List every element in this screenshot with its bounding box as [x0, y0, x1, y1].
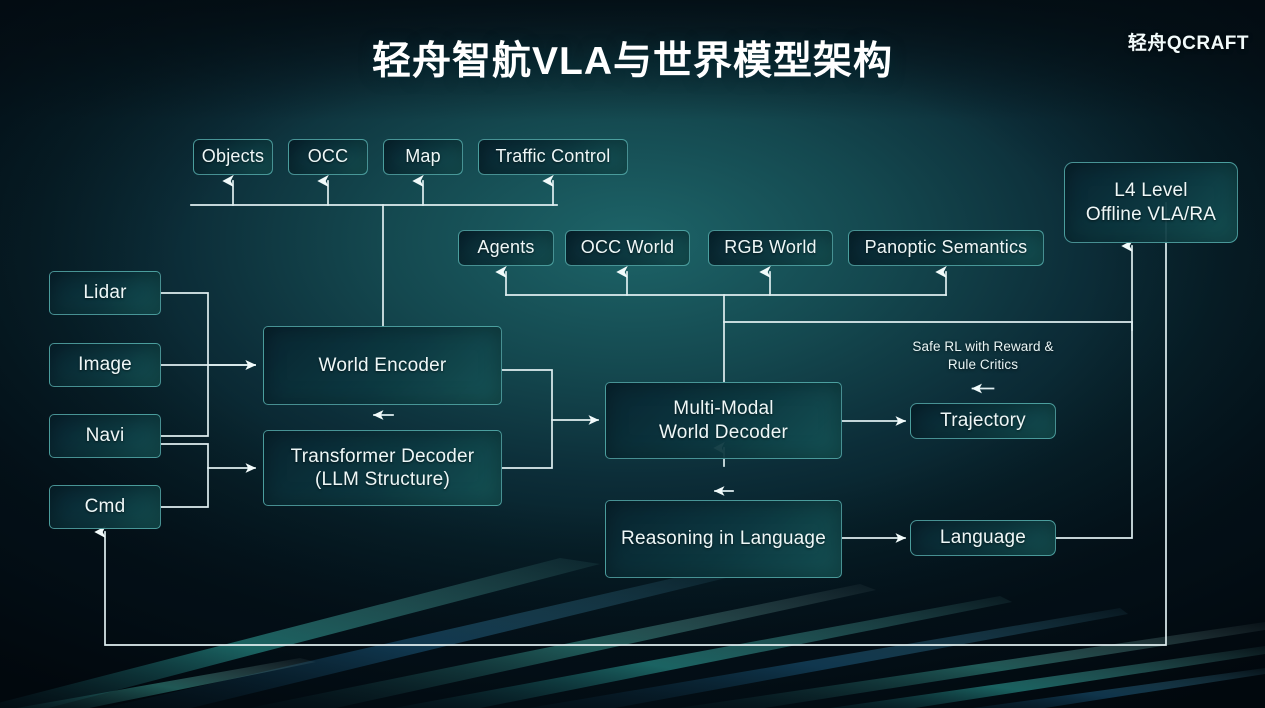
- node-multimodal-world-decoder-line2: World Decoder: [659, 421, 788, 444]
- node-world-encoder[interactable]: World Encoder: [263, 326, 502, 405]
- node-lidar[interactable]: Lidar: [49, 271, 161, 315]
- node-occ[interactable]: OCC: [288, 139, 368, 175]
- node-multimodal-world-decoder-line1: Multi-Modal: [673, 397, 773, 420]
- node-transformer-decoder-line1: Transformer Decoder: [291, 445, 475, 468]
- node-occ-world[interactable]: OCC World: [565, 230, 690, 266]
- node-agents-label: Agents: [477, 237, 534, 259]
- node-image[interactable]: Image: [49, 343, 161, 387]
- node-transformer-decoder[interactable]: Transformer Decoder (LLM Structure): [263, 430, 502, 506]
- node-trajectory[interactable]: Trajectory: [910, 403, 1056, 439]
- node-traffic-control-label: Traffic Control: [495, 146, 610, 168]
- node-rgb-world-label: RGB World: [724, 237, 817, 259]
- annotation-safe-rl-line1: Safe RL with Reward &: [883, 338, 1083, 356]
- node-image-label: Image: [78, 353, 132, 376]
- node-agents[interactable]: Agents: [458, 230, 554, 266]
- node-reasoning-in-language-label: Reasoning in Language: [621, 527, 826, 550]
- node-map-label: Map: [405, 146, 441, 168]
- node-l4-offline-vla[interactable]: L4 Level Offline VLA/RA: [1064, 162, 1238, 243]
- node-occ-world-label: OCC World: [581, 237, 674, 259]
- node-occ-label: OCC: [308, 146, 349, 168]
- node-navi-label: Navi: [86, 424, 125, 447]
- node-language-label: Language: [940, 526, 1026, 549]
- node-panoptic-semantics[interactable]: Panoptic Semantics: [848, 230, 1044, 266]
- node-objects[interactable]: Objects: [193, 139, 273, 175]
- brand-logo: 轻舟QCRAFT: [1128, 28, 1249, 55]
- annotation-safe-rl-line2: Rule Critics: [883, 356, 1083, 374]
- node-rgb-world[interactable]: RGB World: [708, 230, 833, 266]
- node-cmd[interactable]: Cmd: [49, 485, 161, 529]
- node-trajectory-label: Trajectory: [940, 409, 1026, 432]
- node-navi[interactable]: Navi: [49, 414, 161, 458]
- node-world-encoder-label: World Encoder: [319, 354, 447, 377]
- node-language[interactable]: Language: [910, 520, 1056, 556]
- slide-canvas: 轻舟智航VLA与世界模型架构 轻舟QCRAFT Objects OCC Map …: [0, 0, 1265, 708]
- node-reasoning-in-language[interactable]: Reasoning in Language: [605, 500, 842, 578]
- node-panoptic-semantics-label: Panoptic Semantics: [865, 237, 1028, 259]
- node-l4-offline-vla-line2: Offline VLA/RA: [1086, 203, 1216, 226]
- node-transformer-decoder-line2: (LLM Structure): [315, 468, 450, 491]
- node-lidar-label: Lidar: [83, 281, 126, 304]
- node-map[interactable]: Map: [383, 139, 463, 175]
- node-traffic-control[interactable]: Traffic Control: [478, 139, 628, 175]
- node-l4-offline-vla-line1: L4 Level: [1114, 179, 1187, 202]
- node-objects-label: Objects: [202, 146, 264, 168]
- annotation-safe-rl: Safe RL with Reward & Rule Critics: [883, 338, 1083, 374]
- node-cmd-label: Cmd: [85, 495, 126, 518]
- node-multimodal-world-decoder[interactable]: Multi-Modal World Decoder: [605, 382, 842, 459]
- page-title: 轻舟智航VLA与世界模型架构: [0, 30, 1265, 86]
